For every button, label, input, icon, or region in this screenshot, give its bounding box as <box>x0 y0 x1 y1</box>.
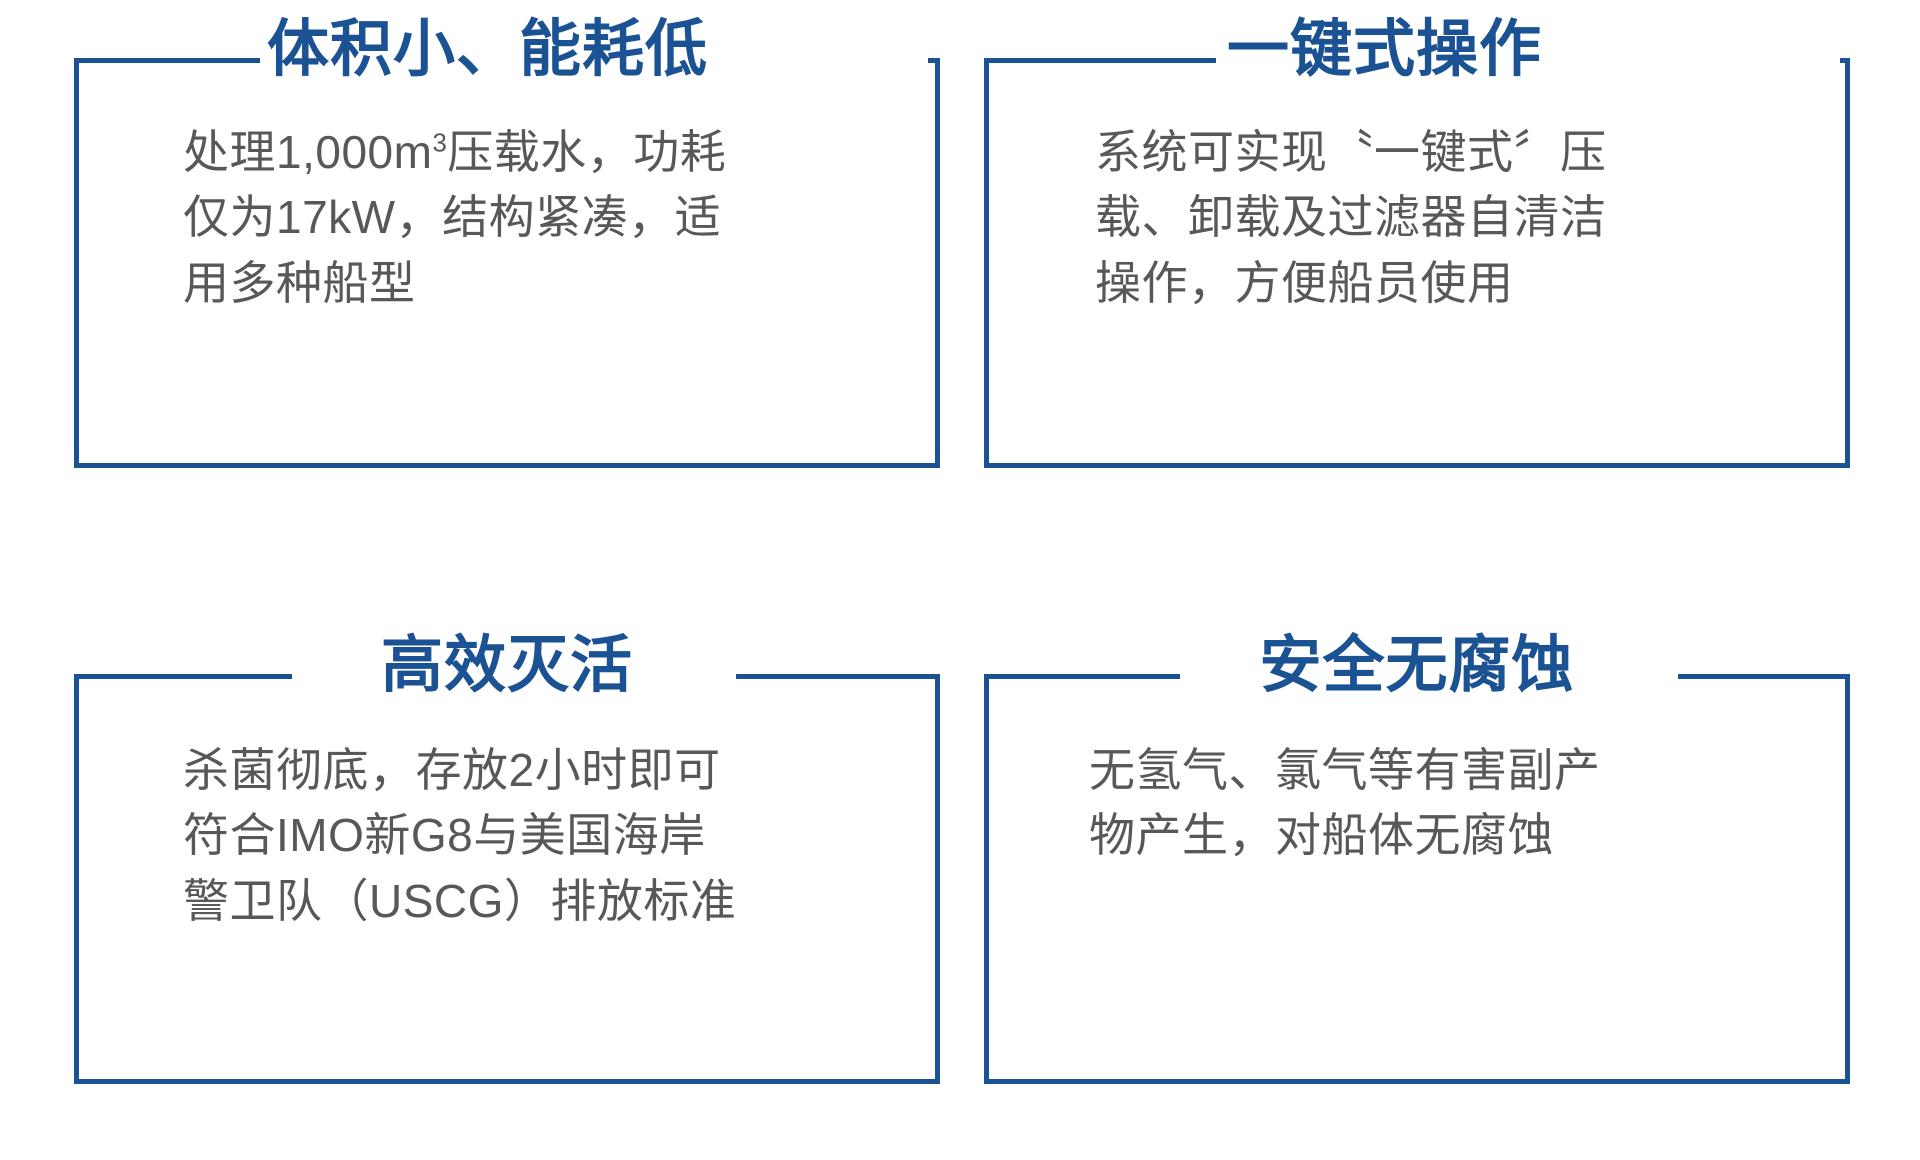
card-body: 系统可实现〝一键式〞压 载、卸载及过滤器自清洁 操作，方便船员使用 <box>989 60 1845 316</box>
feature-card-one-key-operation: 一键式操作 系统可实现〝一键式〞压 载、卸载及过滤器自清洁 操作，方便船员使用 <box>984 60 1850 468</box>
card-body-text-lead: 无氢气、氯气等有害副产 物产生，对船体无腐蚀 <box>1089 744 1601 861</box>
card-body: 杀菌彻底，存放2小时即可 符合IMO新G8与美国海岸 警卫队（USCG）排放标准 <box>79 676 935 934</box>
card-body-superscript: 3 <box>432 130 447 158</box>
card-body-text-lead: 处理1,000m <box>183 126 432 178</box>
feature-card-high-efficiency-inactivation: 高效灭活 杀菌彻底，存放2小时即可 符合IMO新G8与美国海岸 警卫队（USCG… <box>74 676 940 1084</box>
feature-card-safe-non-corrosive: 安全无腐蚀 无氢气、氯气等有害副产 物产生，对船体无腐蚀 <box>984 676 1850 1084</box>
card-body: 处理1,000m3压载水，功耗 仅为17kW，结构紧凑，适 用多种船型 <box>79 60 935 316</box>
feature-card-compact-low-power: 体积小、能耗低 处理1,000m3压载水，功耗 仅为17kW，结构紧凑，适 用多… <box>74 60 940 468</box>
card-body-text-lead: 杀菌彻底，存放2小时即可 符合IMO新G8与美国海岸 警卫队（USCG）排放标准 <box>183 744 736 927</box>
feature-card-grid: 体积小、能耗低 处理1,000m3压载水，功耗 仅为17kW，结构紧凑，适 用多… <box>0 0 1920 1160</box>
card-body: 无氢气、氯气等有害副产 物产生，对船体无腐蚀 <box>989 676 1845 869</box>
card-body-text-lead: 系统可实现〝一键式〞压 载、卸载及过滤器自清洁 操作，方便船员使用 <box>1095 126 1607 309</box>
feature-grid-page: 体积小、能耗低 处理1,000m3压载水，功耗 仅为17kW，结构紧凑，适 用多… <box>0 0 1920 1160</box>
